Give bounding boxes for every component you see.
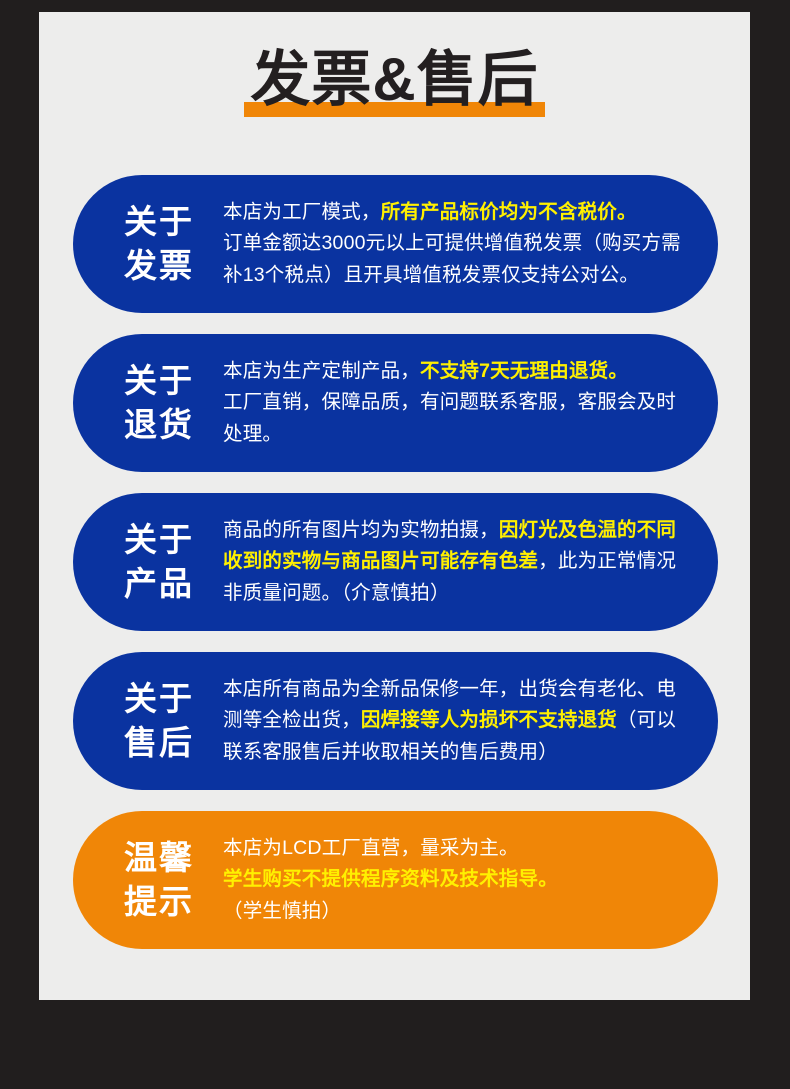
info-card-label-line2: 产品 bbox=[103, 562, 215, 606]
info-card-label-line2: 退货 bbox=[103, 403, 215, 447]
info-card: 关于售后本店所有商品为全新品保修一年，出货会有老化、电测等全检出货，因焊接等人为… bbox=[73, 652, 718, 790]
info-card-body: 本店所有商品为全新品保修一年，出货会有老化、电测等全检出货，因焊接等人为损坏不支… bbox=[221, 674, 693, 769]
body-text: 处理。 bbox=[223, 423, 282, 445]
info-card-body-line: 本店为工厂模式，所有产品标价均为不含税价。 bbox=[223, 197, 693, 229]
info-card-list: 关于发票本店为工厂模式，所有产品标价均为不含税价。订单金额达3000元以上可提供… bbox=[73, 175, 718, 970]
info-card-body-line: 本店为生产定制产品，不支持7天无理由退货。 bbox=[223, 356, 693, 388]
body-text: 本店为LCD工厂直营，量采为主。 bbox=[223, 837, 519, 859]
highlighted-text: 因焊接等人为损坏不支持退货 bbox=[361, 709, 617, 731]
info-card-label-line1: 关于 bbox=[124, 362, 194, 399]
info-card-body: 本店为工厂模式，所有产品标价均为不含税价。订单金额达3000元以上可提供增值税发… bbox=[221, 197, 693, 292]
highlighted-text: 因灯光及色温的不同 bbox=[499, 519, 676, 541]
info-card-body: 商品的所有图片均为实物拍摄，因灯光及色温的不同收到的实物与商品图片可能存有色差，… bbox=[221, 515, 693, 610]
info-card-label: 关于发票 bbox=[103, 200, 221, 287]
page-frame: 发票&售后 关于发票本店为工厂模式，所有产品标价均为不含税价。订单金额达3000… bbox=[0, 0, 790, 1089]
page-title-inner: 发票&售后 bbox=[244, 42, 544, 119]
body-text: （学生慎拍） bbox=[223, 900, 341, 922]
highlighted-text: 所有产品标价均为不含税价。 bbox=[381, 201, 637, 223]
info-card-body-line: 测等全检出货，因焊接等人为损坏不支持退货（可以 bbox=[223, 705, 693, 737]
info-card-label: 关于退货 bbox=[103, 359, 221, 446]
info-card-label: 关于产品 bbox=[103, 518, 221, 605]
info-card-label-line1: 关于 bbox=[124, 521, 194, 558]
highlighted-text: 不支持7天无理由退货。 bbox=[420, 360, 628, 382]
body-text: 非质量问题。（介意慎拍） bbox=[223, 582, 450, 604]
info-card-label-line2: 售后 bbox=[103, 721, 215, 765]
highlighted-text: 收到的实物与商品图片可能存有色差 bbox=[223, 550, 538, 572]
info-card-body-line: 工厂直销，保障品质，有问题联系客服，客服会及时 bbox=[223, 387, 693, 419]
info-card: 关于退货本店为生产定制产品，不支持7天无理由退货。工厂直销，保障品质，有问题联系… bbox=[73, 334, 718, 472]
body-text: 补13个税点）且开具增值税发票仅支持公对公。 bbox=[223, 264, 639, 286]
info-card-label-line1: 关于 bbox=[124, 680, 194, 717]
body-text: 测等全检出货， bbox=[223, 709, 361, 731]
info-card-label: 温馨提示 bbox=[103, 836, 221, 923]
info-card-body-line: （学生慎拍） bbox=[223, 896, 693, 928]
info-card-body-line: 订单金额达3000元以上可提供增值税发票（购买方需 bbox=[223, 228, 693, 260]
page-sheet: 发票&售后 关于发票本店为工厂模式，所有产品标价均为不含税价。订单金额达3000… bbox=[39, 12, 750, 1000]
info-card-body-line: 学生购买不提供程序资料及技术指导。 bbox=[223, 864, 693, 896]
info-card-body: 本店为LCD工厂直营，量采为主。学生购买不提供程序资料及技术指导。（学生慎拍） bbox=[221, 833, 693, 928]
info-card-body-line: 本店所有商品为全新品保修一年，出货会有老化、电 bbox=[223, 674, 693, 706]
body-text: 联系客服售后并收取相关的售后费用） bbox=[223, 741, 558, 763]
info-card-label: 关于售后 bbox=[103, 677, 221, 764]
info-card: 关于产品商品的所有图片均为实物拍摄，因灯光及色温的不同收到的实物与商品图片可能存… bbox=[73, 493, 718, 631]
info-card-body-line: 补13个税点）且开具增值税发票仅支持公对公。 bbox=[223, 260, 693, 292]
body-text: 本店为工厂模式， bbox=[223, 201, 381, 223]
info-card-body: 本店为生产定制产品，不支持7天无理由退货。工厂直销，保障品质，有问题联系客服，客… bbox=[221, 356, 693, 451]
info-card-label-line1: 关于 bbox=[124, 203, 194, 240]
body-text: 本店为生产定制产品， bbox=[223, 360, 420, 382]
info-card-body-line: 非质量问题。（介意慎拍） bbox=[223, 578, 693, 610]
info-card-body-line: 收到的实物与商品图片可能存有色差，此为正常情况 bbox=[223, 546, 693, 578]
highlighted-text: 学生购买不提供程序资料及技术指导。 bbox=[223, 868, 558, 890]
body-text: ，此为正常情况 bbox=[538, 550, 676, 572]
info-card-label-line2: 提示 bbox=[103, 880, 215, 924]
body-text: 商品的所有图片均为实物拍摄， bbox=[223, 519, 499, 541]
info-card-label-line1: 温馨 bbox=[124, 839, 194, 876]
info-card-body-line: 本店为LCD工厂直营，量采为主。 bbox=[223, 833, 693, 865]
info-card-body-line: 商品的所有图片均为实物拍摄，因灯光及色温的不同 bbox=[223, 515, 693, 547]
body-text: 工厂直销，保障品质，有问题联系客服，客服会及时 bbox=[223, 391, 676, 413]
info-card-label-line2: 发票 bbox=[103, 244, 215, 288]
page-title-block: 发票&售后 bbox=[39, 42, 750, 119]
info-card: 温馨提示本店为LCD工厂直营，量采为主。学生购买不提供程序资料及技术指导。（学生… bbox=[73, 811, 718, 949]
info-card-body-line: 联系客服售后并收取相关的售后费用） bbox=[223, 737, 693, 769]
info-card: 关于发票本店为工厂模式，所有产品标价均为不含税价。订单金额达3000元以上可提供… bbox=[73, 175, 718, 313]
body-text: 本店所有商品为全新品保修一年，出货会有老化、电 bbox=[223, 678, 676, 700]
page-title: 发票&售后 bbox=[250, 46, 538, 113]
info-card-body-line: 处理。 bbox=[223, 419, 693, 451]
body-text: 订单金额达3000元以上可提供增值税发票（购买方需 bbox=[223, 232, 681, 254]
body-text: （可以 bbox=[617, 709, 676, 731]
